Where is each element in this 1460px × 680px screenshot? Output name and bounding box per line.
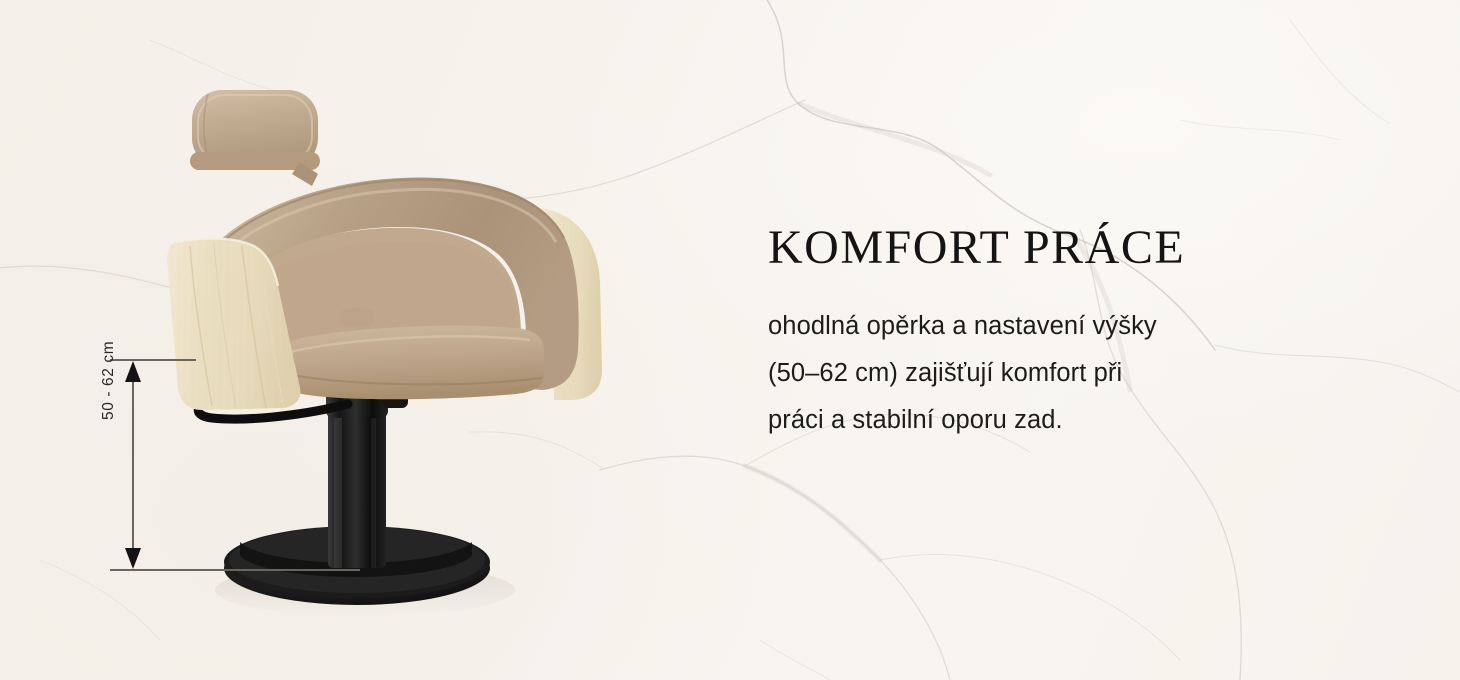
- body-line-3: práci a stabilní oporu zad.: [768, 397, 1368, 444]
- salon-chair-image: [150, 70, 670, 630]
- body-copy: ohodlná opěrka a nastavení výšky (50–62 …: [768, 275, 1368, 444]
- page-title: KOMFORT PRÁCE: [768, 222, 1368, 275]
- body-line-1: ohodlná opěrka a nastavení výšky: [768, 303, 1368, 350]
- chair-body: [167, 90, 602, 410]
- chair-headrest: [190, 90, 320, 186]
- promo-banner: 50 - 62 cm KOMFORT PRÁCE ohodlná opěrka …: [0, 0, 1460, 680]
- body-line-2: (50–62 cm) zajišťují komfort při: [768, 350, 1368, 397]
- copy-block: KOMFORT PRÁCE ohodlná opěrka a nastavení…: [768, 222, 1368, 444]
